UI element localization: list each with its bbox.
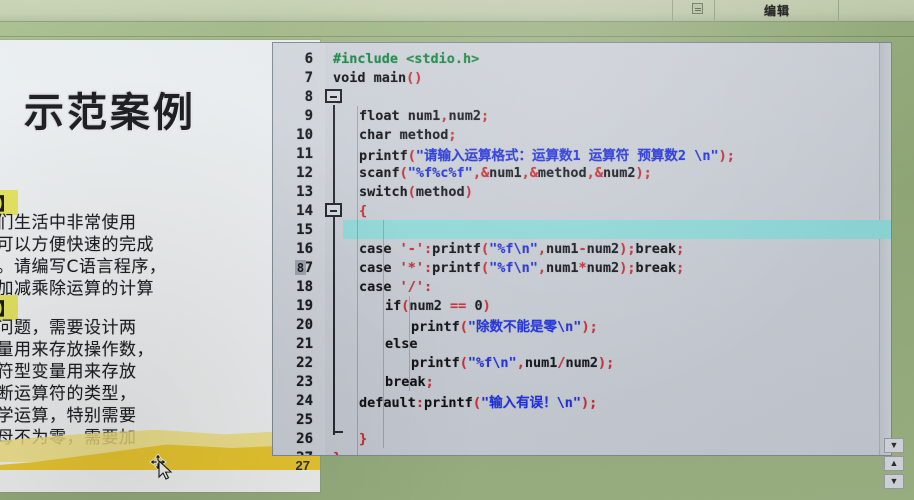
line-number: 27 bbox=[273, 450, 319, 457]
code-text: printf("%f\n",num1/num2); bbox=[411, 355, 614, 371]
code-token: printf bbox=[359, 148, 408, 164]
code-token: break bbox=[385, 374, 426, 390]
code-token: #include <stdio.h> bbox=[333, 51, 479, 67]
line-number: 26 bbox=[273, 431, 319, 447]
code-token: "输入有误！\n" bbox=[481, 395, 581, 411]
code-text: } bbox=[359, 431, 367, 447]
code-text: scanf("%f%c%f",&num1,&method,&num2); bbox=[359, 165, 652, 181]
code-token: "%f\n" bbox=[468, 355, 517, 371]
ribbon-separator bbox=[838, 0, 839, 22]
line-number: 25 bbox=[273, 412, 319, 428]
code-token: printf bbox=[432, 241, 481, 257]
code-text: case '/': bbox=[359, 279, 432, 295]
ribbon-group-label-edit: 编辑 bbox=[744, 0, 810, 20]
code-token: void main bbox=[333, 70, 406, 86]
code-token: ( bbox=[408, 148, 416, 164]
code-token: & bbox=[595, 165, 603, 181]
code-line[interactable]: 7void main() bbox=[273, 68, 891, 87]
code-line[interactable]: 9float num1,num2; bbox=[273, 106, 891, 125]
code-token: case bbox=[359, 260, 400, 276]
code-token: num2 bbox=[603, 165, 636, 181]
code-token: ); bbox=[719, 148, 735, 164]
code-text: } bbox=[333, 450, 341, 457]
code-text: case '-':printf("%f\n",num1-num2);break; bbox=[359, 241, 684, 257]
code-token: method bbox=[538, 165, 587, 181]
code-text: switch(method) bbox=[359, 184, 473, 200]
code-token: : bbox=[424, 260, 432, 276]
code-token: , bbox=[473, 165, 481, 181]
line-number: 23 bbox=[273, 374, 319, 390]
code-token: scanf bbox=[359, 165, 400, 181]
code-token: : bbox=[424, 279, 432, 295]
ribbon-separator bbox=[672, 0, 673, 22]
line-number: 7 bbox=[273, 70, 319, 86]
line-number: 20 bbox=[273, 317, 319, 333]
code-token: , bbox=[522, 165, 530, 181]
code-token: , bbox=[538, 260, 546, 276]
code-token: "%f%c%f" bbox=[408, 165, 473, 181]
code-token: num2 bbox=[409, 298, 450, 314]
text-caret-artifact: 8 bbox=[295, 260, 306, 275]
code-line[interactable]: 19if(num2 == 0) bbox=[273, 296, 891, 315]
code-line[interactable]: 22printf("%f\n",num1/num2); bbox=[273, 353, 891, 372]
code-token: num1 bbox=[525, 355, 558, 371]
code-editor-canvas: 6#include <stdio.h>7void main()8{9float … bbox=[273, 43, 891, 455]
code-token: num1 bbox=[546, 260, 579, 276]
code-text: if(num2 == 0) bbox=[385, 298, 491, 314]
code-editor-window[interactable]: 6#include <stdio.h>7void main()8{9float … bbox=[272, 42, 892, 456]
code-token: } bbox=[333, 450, 341, 457]
code-token: '/' bbox=[400, 279, 424, 295]
line-number: 14 bbox=[273, 203, 319, 219]
code-token: , bbox=[538, 241, 546, 257]
code-token: { bbox=[359, 203, 367, 219]
code-line[interactable]: 25 bbox=[273, 410, 891, 429]
code-line[interactable]: 17case '*':printf("%f\n",num1*num2);brea… bbox=[273, 258, 891, 277]
line-number: 24 bbox=[273, 393, 319, 409]
code-token: () bbox=[406, 70, 422, 86]
code-line[interactable]: 23break; bbox=[273, 372, 891, 391]
code-token: ( bbox=[460, 319, 468, 335]
code-text: case '*':printf("%f\n",num1*num2);break; bbox=[359, 260, 684, 276]
editor-scrollbar[interactable] bbox=[879, 43, 891, 455]
code-token: ( bbox=[400, 165, 408, 181]
page-title: 示范案例 bbox=[24, 80, 196, 138]
line-number: 11 bbox=[273, 146, 319, 162]
code-line[interactable]: 11printf("请输入运算格式：运算数1 运算符 预算数2 \n"); bbox=[273, 144, 891, 163]
code-token: break bbox=[635, 241, 676, 257]
code-token: '-' bbox=[400, 241, 424, 257]
previous-slide-button[interactable]: ▼ bbox=[884, 438, 904, 453]
code-token: float bbox=[359, 108, 408, 124]
code-text: default:printf("输入有误！\n"); bbox=[359, 391, 597, 411]
code-token: break bbox=[635, 260, 676, 276]
code-token: : bbox=[416, 395, 424, 411]
code-line[interactable]: 14{ bbox=[273, 201, 891, 220]
code-token: printf bbox=[432, 260, 481, 276]
code-line[interactable]: 16case '-':printf("%f\n",num1-num2);brea… bbox=[273, 239, 891, 258]
dialog-launcher-icon[interactable] bbox=[692, 3, 703, 14]
chevron-up-icon: ▲ bbox=[890, 459, 899, 468]
chevron-down-icon: ▼ bbox=[890, 441, 899, 450]
code-token: printf bbox=[411, 319, 460, 335]
code-line[interactable]: 13switch(method) bbox=[273, 182, 891, 201]
code-token: ; bbox=[676, 260, 684, 276]
code-line[interactable]: 24default:printf("输入有误！\n"); bbox=[273, 391, 891, 410]
code-token: ); bbox=[619, 260, 635, 276]
line-number: 6 bbox=[273, 51, 319, 67]
code-line[interactable]: 27} bbox=[273, 448, 891, 456]
code-token: ( bbox=[473, 395, 481, 411]
code-token: num1 bbox=[408, 108, 441, 124]
code-line[interactable]: 6#include <stdio.h> bbox=[273, 49, 891, 68]
move-cursor bbox=[148, 452, 178, 482]
code-token: printf bbox=[424, 395, 473, 411]
code-token: ( bbox=[408, 184, 416, 200]
code-token: num2 bbox=[566, 355, 599, 371]
line-number: 8 bbox=[273, 89, 319, 105]
code-token: : bbox=[424, 241, 432, 257]
scroll-up-button[interactable]: ▲ bbox=[884, 456, 904, 471]
code-token: & bbox=[530, 165, 538, 181]
line-number: 9 bbox=[273, 108, 319, 124]
code-token: ); bbox=[635, 165, 651, 181]
code-token: if bbox=[385, 298, 401, 314]
code-token: } bbox=[359, 431, 367, 447]
code-token: "除数不能是零\n" bbox=[468, 319, 582, 335]
code-line[interactable]: 20printf("除数不能是零\n"); bbox=[273, 315, 891, 334]
code-text: else bbox=[385, 336, 418, 352]
code-line[interactable]: 10char method; bbox=[273, 125, 891, 144]
line-number: 16 bbox=[273, 241, 319, 257]
code-token: '*' bbox=[400, 260, 424, 276]
section-body-description: 器是我们生活中非常使用 工具，可以方便快速的完成 学运算。请编写C语言程序， 多… bbox=[0, 212, 166, 300]
code-token: ); bbox=[581, 319, 597, 335]
code-token: ( bbox=[481, 241, 489, 257]
ribbon-separator bbox=[714, 0, 715, 22]
code-token: , bbox=[517, 355, 525, 371]
code-token: default bbox=[359, 395, 416, 411]
code-token: ; bbox=[448, 127, 456, 143]
code-line[interactable]: 12scanf("%f%c%f",&num1,&method,&num2); bbox=[273, 163, 891, 182]
code-token: char bbox=[359, 127, 400, 143]
code-token: ; bbox=[426, 374, 434, 390]
code-token: ); bbox=[619, 241, 635, 257]
code-token: ); bbox=[581, 395, 597, 411]
line-number: 22 bbox=[273, 355, 319, 371]
code-token: , bbox=[587, 165, 595, 181]
code-line[interactable]: 8{ bbox=[273, 87, 891, 106]
code-text: void main() bbox=[333, 70, 422, 86]
code-token: - bbox=[579, 241, 587, 257]
line-number: 21 bbox=[273, 336, 319, 352]
code-token: method bbox=[400, 127, 449, 143]
code-line[interactable]: 21else bbox=[273, 334, 891, 353]
fold-toggle-icon[interactable] bbox=[325, 203, 342, 217]
code-token: case bbox=[359, 241, 400, 257]
fold-end-marker bbox=[333, 431, 343, 433]
line-number: 19 bbox=[273, 298, 319, 314]
indent-guide bbox=[409, 296, 410, 391]
code-token: 0 bbox=[474, 298, 482, 314]
code-token: num2 bbox=[448, 108, 481, 124]
code-token: ( bbox=[481, 260, 489, 276]
code-token: "%f\n" bbox=[489, 260, 538, 276]
line-number: 15 bbox=[273, 222, 319, 238]
line-number: 10 bbox=[273, 127, 319, 143]
code-token: num1 bbox=[489, 165, 522, 181]
code-token: ) bbox=[465, 184, 473, 200]
indent-guide bbox=[383, 220, 384, 448]
code-token: "%f\n" bbox=[489, 241, 538, 257]
code-line[interactable]: 26} bbox=[273, 429, 891, 448]
code-line[interactable]: 18case '/': bbox=[273, 277, 891, 296]
code-token: == bbox=[450, 298, 474, 314]
wall-seam bbox=[0, 36, 914, 37]
code-token: ; bbox=[481, 108, 489, 124]
code-token: num2 bbox=[587, 241, 620, 257]
code-text: { bbox=[359, 203, 367, 219]
code-text: char method; bbox=[359, 127, 457, 143]
code-token: switch bbox=[359, 184, 408, 200]
code-token: case bbox=[359, 279, 400, 295]
code-token: num2 bbox=[587, 260, 620, 276]
slide-number: 27 bbox=[296, 458, 310, 473]
code-token: & bbox=[481, 165, 489, 181]
highlighted-line-background bbox=[343, 220, 892, 239]
code-text: printf("除数不能是零\n"); bbox=[411, 315, 598, 335]
line-number: 13 bbox=[273, 184, 319, 200]
next-slide-button[interactable]: ▼ bbox=[884, 474, 904, 489]
code-token: "请输入运算格式：运算数1 运算符 预算数2 \n" bbox=[416, 148, 719, 164]
ribbon-strip: 编辑 bbox=[0, 0, 914, 22]
code-token: ; bbox=[676, 241, 684, 257]
code-token: ) bbox=[483, 298, 491, 314]
code-text: #include <stdio.h> bbox=[333, 51, 479, 67]
code-text: printf("请输入运算格式：运算数1 运算符 预算数2 \n"); bbox=[359, 144, 735, 164]
code-token: / bbox=[557, 355, 565, 371]
code-token: * bbox=[579, 260, 587, 276]
chevron-down-icon: ▼ bbox=[890, 477, 899, 486]
code-token: printf bbox=[411, 355, 460, 371]
code-token: num1 bbox=[546, 241, 579, 257]
fold-toggle-icon[interactable] bbox=[325, 89, 342, 103]
code-token: method bbox=[416, 184, 465, 200]
code-token: ); bbox=[598, 355, 614, 371]
code-token: else bbox=[385, 336, 418, 352]
code-text: float num1,num2; bbox=[359, 108, 489, 124]
line-number: 18 bbox=[273, 279, 319, 295]
line-number: 12 bbox=[273, 165, 319, 181]
code-token: ( bbox=[460, 355, 468, 371]
indent-guide bbox=[357, 106, 358, 456]
